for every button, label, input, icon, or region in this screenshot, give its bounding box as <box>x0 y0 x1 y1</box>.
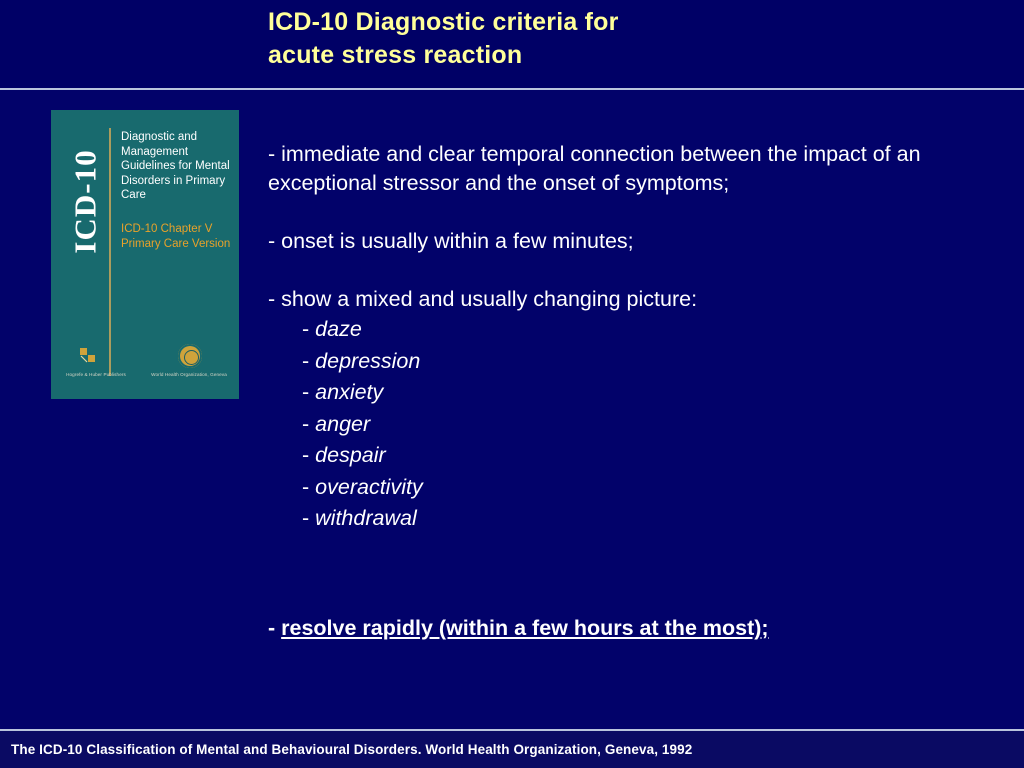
symptom-list: - daze - depression - anxiety - anger - … <box>268 314 998 535</box>
title-line-1: ICD-10 Diagnostic criteria for <box>268 6 968 39</box>
spacer-4 <box>268 564 998 593</box>
list-item: - daze <box>268 314 998 346</box>
publisher-right-label: World Health Organization, Geneva <box>143 372 235 378</box>
title-line-2: acute stress reaction <box>268 39 968 72</box>
slide-body: - immediate and clear temporal connectio… <box>268 140 998 665</box>
book-cover-publishers: Hogrefe & Huber Publishers World Health … <box>51 338 239 394</box>
who-logo-icon <box>178 344 202 368</box>
list-item-dash: - <box>302 475 309 499</box>
list-item-dash: - <box>302 506 309 530</box>
book-cover-sub-text: ICD-10 Chapter V Primary Care Version <box>121 222 239 251</box>
footer-citation: The ICD-10 Classification of Mental and … <box>11 742 692 757</box>
page-title: ICD-10 Diagnostic criteria for acute str… <box>268 6 968 72</box>
spacer-1 <box>268 198 998 227</box>
list-item-dash: - <box>302 317 309 341</box>
list-item: - despair <box>268 440 998 472</box>
list-item-label: overactivity <box>315 475 423 499</box>
slide-footer: The ICD-10 Classification of Mental and … <box>0 731 1024 768</box>
list-item-dash: - <box>302 349 309 373</box>
book-spine-title: ICD-10 <box>70 137 101 267</box>
list-item: - overactivity <box>268 472 998 504</box>
list-item: - withdrawal <box>268 503 998 535</box>
list-item: - anger <box>268 409 998 441</box>
list-item-dash: - <box>302 412 309 436</box>
book-cover-image: ICD-10 Diagnostic and Management Guideli… <box>51 110 239 399</box>
spacer-3 <box>268 535 998 564</box>
bullet-onset-minutes: - onset is usually within a few minutes; <box>268 227 998 256</box>
list-item-label: anxiety <box>315 380 383 404</box>
final-line-label: resolve rapidly (within a few hours at t… <box>281 616 768 640</box>
publisher-left-label: Hogrefe & Huber Publishers <box>57 372 135 378</box>
header-divider <box>0 88 1024 90</box>
list-item-label: withdrawal <box>315 506 417 530</box>
list-item-label: anger <box>315 412 370 436</box>
list-item-dash: - <box>302 380 309 404</box>
hogrefe-logo-icon <box>79 346 101 368</box>
list-item-label: despair <box>315 443 386 467</box>
bullet-mixed-picture: - show a mixed and usually changing pict… <box>268 285 998 314</box>
spacer-2 <box>268 256 998 285</box>
final-line-dash: - <box>268 616 281 640</box>
slide-header: ICD-10 Diagnostic criteria for acute str… <box>0 0 1024 88</box>
bullet-resolve-rapidly: - resolve rapidly (within a few hours at… <box>268 614 998 643</box>
list-item-label: daze <box>315 317 362 341</box>
bullet-immediate-connection: - immediate and clear temporal connectio… <box>268 140 998 198</box>
list-item-label: depression <box>315 349 420 373</box>
list-item: - depression <box>268 346 998 378</box>
list-item-dash: - <box>302 443 309 467</box>
book-cover-main-text: Diagnostic and Management Guidelines for… <box>121 130 239 203</box>
list-item: - anxiety <box>268 377 998 409</box>
